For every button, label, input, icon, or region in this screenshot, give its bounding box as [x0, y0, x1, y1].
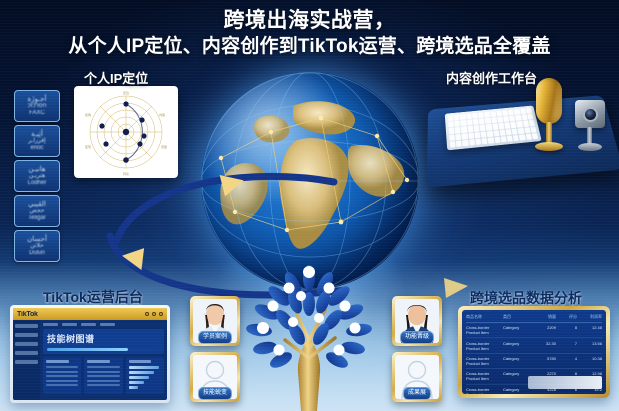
chart-bar [129, 366, 160, 369]
language-card-stack: أجـوِزَة חסרכזכ FAXC أثِيـة إقرراـر enoc… [14, 90, 62, 265]
cell-category: Category [503, 325, 531, 335]
language-card-line1: أحسان [27, 236, 47, 243]
sidebar-item[interactable] [15, 360, 38, 364]
progress-bar [47, 348, 160, 351]
tiktok-stat-card [43, 357, 81, 394]
microphone-icon [534, 78, 564, 156]
tiktok-sidebar[interactable] [13, 320, 40, 400]
avatar[interactable] [159, 312, 163, 316]
language-card-line3: Lodher [28, 180, 47, 187]
table-row: Cross-border Product Item Category 32.30… [466, 338, 602, 353]
language-card-line3: enoc [30, 145, 43, 152]
language-card-line1: هانيـن [28, 166, 45, 173]
column-header: 商品名称 [466, 314, 500, 320]
coach-team-badge: 功能晋级 [400, 331, 434, 344]
result-show-card[interactable]: 成果展 [392, 352, 442, 402]
table-highlight-overlay [528, 376, 602, 389]
poster-canvas: 跨境出海实战营， 从个人IP定位、内容创作到TikTok运营、跨境选品全覆盖 [0, 0, 619, 411]
tiktok-dashboard-mockup[interactable]: TikTok [10, 305, 170, 403]
ip-positioning-caption: 个人IP定位 [84, 68, 148, 87]
tiktok-tabs[interactable] [43, 323, 164, 326]
card-heading [129, 360, 152, 363]
cell-rating: 4 [559, 356, 577, 366]
data-analysis-panel[interactable]: 商品名称 类目 销量 评分 利润率 Cross-border Product I… [458, 306, 610, 398]
card-line [46, 380, 78, 382]
cell-product: Cross-border Product Item [466, 387, 500, 394]
skill-tree-graphic [245, 262, 375, 411]
card-line [87, 366, 119, 368]
tiktok-logo: TikTok [17, 311, 38, 318]
table-row: Cross-border Product Item Category 2209 … [466, 323, 602, 338]
language-card: الڤيبي حجص Teligar [14, 195, 60, 227]
cell-rating: 8 [559, 325, 577, 335]
column-header: 销量 [534, 314, 556, 320]
microphone-head [536, 78, 562, 124]
table-header-row: 商品名称 类目 销量 评分 利润率 [466, 314, 602, 323]
tiktok-topbar-icons[interactable] [145, 312, 163, 316]
cell-category: Category [503, 341, 531, 351]
title-line-2: 从个人IP定位、内容创作到TikTok运营、跨境选品全覆盖 [0, 34, 619, 60]
search-icon[interactable] [145, 312, 149, 316]
cell-margin: 10.38 [580, 356, 602, 366]
camera-base [578, 143, 602, 151]
svg-text:转化: 转化 [123, 171, 129, 176]
world-globe-graphic [201, 72, 419, 290]
camera-lens [583, 107, 598, 122]
language-card: هانيـن هتريـن Lodher [14, 160, 60, 192]
chart-bar [129, 381, 145, 384]
tiktok-dashboard-screen: TikTok [13, 308, 167, 400]
language-card-line1: أثِيـة [31, 131, 43, 138]
camera-body [575, 100, 605, 128]
card-line [87, 380, 119, 382]
progress-fill [47, 348, 128, 351]
table-row: Cross-border Product Item Category 5780 … [466, 354, 602, 369]
cell-sales: 5780 [534, 356, 556, 366]
microphone-stem [546, 122, 552, 144]
svg-text:复购: 复购 [85, 112, 91, 117]
microphone-base [535, 142, 563, 151]
language-card-line3: Teligar [28, 215, 46, 222]
svg-text:内容: 内容 [159, 112, 165, 117]
card-heading [87, 360, 110, 363]
card-line [46, 371, 78, 373]
cell-category: Category [503, 371, 531, 381]
language-card-line2: إقرراـر [28, 138, 45, 145]
card-line [87, 384, 119, 386]
cell-product: Cross-border Product Item [466, 371, 500, 381]
cell-product: Cross-border Product Item [466, 325, 500, 335]
cell-category: Category [503, 387, 531, 394]
language-card-line2: هتريـن [29, 173, 45, 180]
svg-text:变现: 变现 [85, 144, 91, 149]
language-card-line1: الڤيبي [28, 201, 46, 208]
student-case-card[interactable]: 学员案例 [190, 296, 240, 346]
sidebar-item[interactable] [15, 342, 38, 346]
svg-text:流量: 流量 [161, 144, 167, 149]
tiktok-backend-caption: TikTok运营后台 [43, 287, 143, 307]
title-line-1: 跨境出海实战营， [0, 8, 619, 34]
column-header: 类目 [503, 314, 531, 320]
language-card: أجـوِزَة חסרכזכ FAXC [14, 90, 60, 122]
tiktok-topbar: TikTok [13, 308, 167, 320]
globe-continents [201, 72, 419, 290]
cell-margin: 12.48 [580, 325, 602, 335]
language-card-line1: أجـوِزَة [28, 96, 47, 103]
sidebar-item[interactable] [15, 351, 38, 355]
card-line [87, 375, 119, 377]
language-card: أثِيـة إقرراـر enoc [14, 125, 60, 157]
column-header: 评分 [559, 314, 577, 320]
card-line [46, 375, 78, 377]
cell-rating: 7 [559, 341, 577, 351]
svg-text:定位: 定位 [123, 90, 129, 95]
tiktok-body: 技能树图谱 [13, 320, 167, 400]
card-line [46, 384, 78, 386]
tiktok-hero-title: 技能树图谱 [47, 332, 160, 345]
cell-sales: 32.30 [534, 341, 556, 351]
tab-item[interactable] [43, 323, 58, 326]
radar-chart: 定位内容 流量转化 变现复购 [74, 86, 178, 178]
language-card-line3: FAXC [29, 110, 45, 117]
sidebar-item[interactable] [15, 324, 38, 328]
content-studio-caption: 内容创作工作台 [446, 68, 537, 87]
tiktok-bar-chart-card [126, 357, 164, 394]
skill-growth-badge: 技能蜕变 [198, 387, 232, 400]
coach-team-card[interactable]: 功能晋级 [392, 296, 442, 346]
tiktok-card-row [43, 357, 164, 394]
card-line [46, 366, 78, 368]
card-line [87, 371, 119, 373]
poster-title-block: 跨境出海实战营， 从个人IP定位、内容创作到TikTok运营、跨境选品全覆盖 [0, 8, 619, 60]
card-heading [46, 360, 69, 363]
cell-product: Cross-border Product Item [466, 341, 500, 351]
language-card: أحسان حلاتن Dulun [14, 230, 60, 262]
chart-bar [129, 371, 154, 374]
ip-positioning-chart-panel: 定位内容 流量转化 变现复购 [74, 86, 178, 178]
cell-product: Cross-border Product Item [466, 356, 500, 366]
language-card-line2: חסרכזכ [27, 103, 46, 110]
cell-margin: 13.56 [580, 341, 602, 351]
tiktok-stat-card [84, 357, 122, 394]
tiktok-hero-panel: 技能树图谱 [43, 329, 164, 354]
result-show-badge: 成果展 [403, 387, 431, 400]
gear-icon[interactable] [152, 312, 156, 316]
tab-item[interactable] [100, 323, 115, 326]
cell-sales: 2209 [534, 325, 556, 335]
tiktok-main-content: 技能树图谱 [40, 320, 167, 400]
cell-category: Category [503, 356, 531, 366]
data-analysis-caption: 跨境选品数据分析 [470, 288, 582, 308]
language-card-line3: Dulun [29, 250, 45, 257]
skill-growth-card[interactable]: 技能蜕变 [190, 352, 240, 402]
column-header: 利润率 [580, 314, 602, 320]
sidebar-item[interactable] [15, 333, 38, 337]
chart-bar [129, 386, 139, 389]
tab-item[interactable] [81, 323, 96, 326]
student-case-badge: 学员案例 [198, 331, 232, 344]
language-card-line2: حجص [30, 208, 45, 215]
language-card-line2: حلاتن [30, 243, 44, 250]
camera-icon [575, 100, 605, 154]
tab-item[interactable] [62, 323, 77, 326]
chart-bar [129, 376, 150, 379]
